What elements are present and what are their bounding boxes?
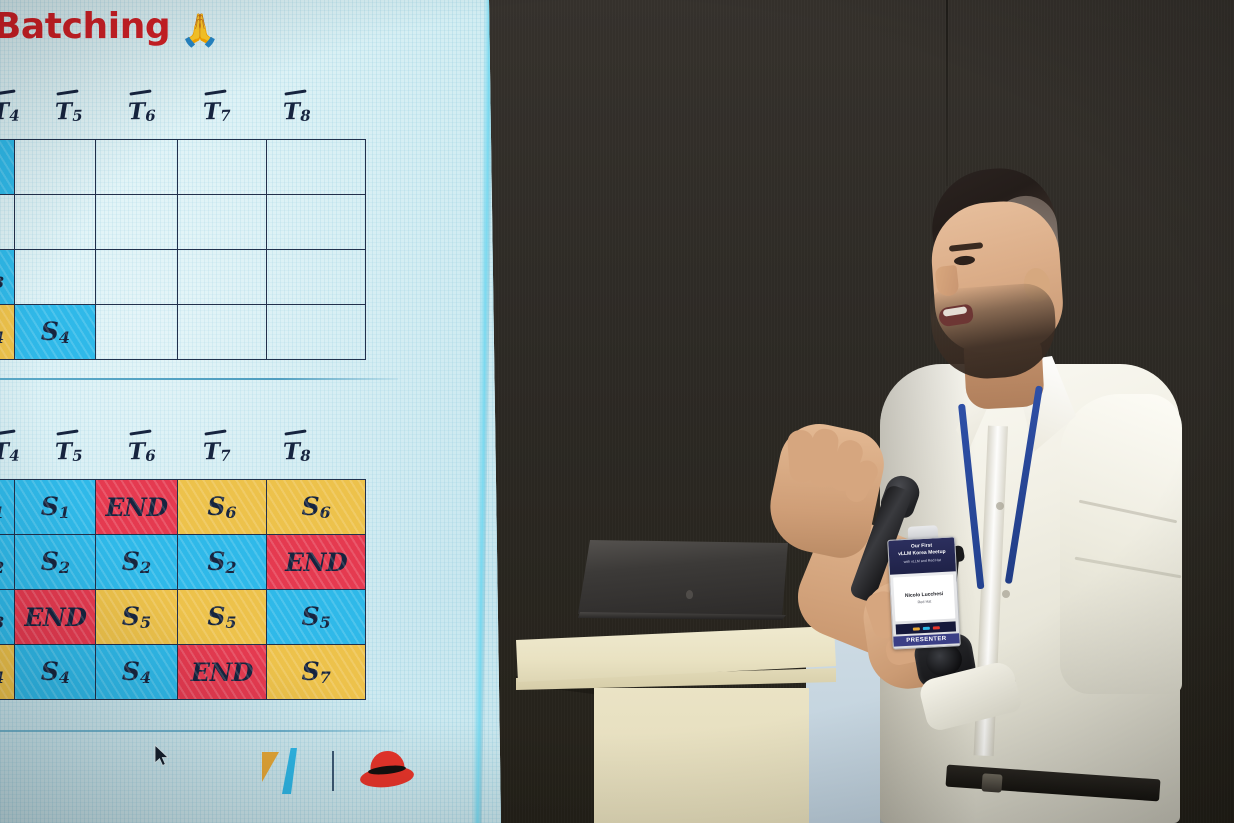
header-t5-bottom: T5 <box>55 438 83 466</box>
grid-cell <box>177 250 267 305</box>
grid-cell <box>267 195 366 250</box>
slide-footer-rule <box>0 730 404 732</box>
grid-cell: S1 <box>0 480 15 535</box>
grid-cell: S4 <box>96 645 177 700</box>
grid-cell <box>15 140 96 195</box>
badge-header: Our First vLLM Korea Meetup with vLLM an… <box>888 537 956 574</box>
shirt-button-2 <box>1002 590 1010 598</box>
presenter-right-shoulder <box>1060 394 1182 694</box>
header-t4-bottom: T4 <box>0 438 20 466</box>
table-row: S4S4S4ENDS7 <box>0 645 366 700</box>
bottom-batching-table: S1S1ENDS6S6S2S2S2S2ENDS3ENDS5S5S5S4S4S4E… <box>0 479 366 700</box>
presenter-figure: Our First vLLM Korea Meetup with vLLM an… <box>760 150 1180 823</box>
grid-cell <box>96 195 177 250</box>
slide-footer-logos <box>262 748 414 794</box>
grid-cell <box>0 195 15 250</box>
badge-body: Nicolo Lucchesi Red Hat <box>893 574 955 621</box>
slide-title-text: ative Batching <box>0 6 170 47</box>
table-row: S3 <box>0 250 366 305</box>
table-row <box>0 140 366 195</box>
grid-cell: S5 <box>177 590 267 645</box>
badge-role: PRESENTER <box>893 633 959 646</box>
grid-cell: END <box>177 645 267 700</box>
badge-attendee-name: Nicolo Lucchesi <box>905 591 944 599</box>
grid-cell: S6 <box>267 480 366 535</box>
slide-divider <box>0 378 398 380</box>
grid-cell: S4 <box>15 645 96 700</box>
projection-screen: ative Batching🙏 T4 T5 T6 T7 T8 S3S4S4 T4… <box>0 0 502 823</box>
header-t4-top: T4 <box>0 98 20 126</box>
grid-cell <box>267 140 366 195</box>
grid-cell: END <box>15 590 96 645</box>
grid-cell: S5 <box>96 590 177 645</box>
header-t8-top: T8 <box>283 98 311 126</box>
grid-cell: S4 <box>0 305 15 360</box>
table-row <box>0 195 366 250</box>
grid-cell: S2 <box>0 535 15 590</box>
mouse-pointer-icon[interactable] <box>154 744 170 768</box>
table-row: S4S4 <box>0 305 366 360</box>
laptop-lid <box>578 540 788 618</box>
grid-cell <box>96 250 177 305</box>
badge-sponsor-strip <box>896 621 956 634</box>
grid-cell: S2 <box>177 535 267 590</box>
header-t8-bottom: T8 <box>283 438 311 466</box>
laptop-logo-icon <box>686 590 693 599</box>
header-t5-top: T5 <box>55 98 83 126</box>
grid-cell <box>15 250 96 305</box>
grid-cell: S3 <box>0 590 15 645</box>
grid-cell <box>177 140 267 195</box>
grid-cell <box>96 140 177 195</box>
grid-cell <box>96 305 177 360</box>
grid-cell: S5 <box>267 590 366 645</box>
header-t6-top: T6 <box>128 98 156 126</box>
grid-cell: END <box>267 535 366 590</box>
table-row: S2S2S2S2END <box>0 535 366 590</box>
grid-cell <box>177 195 267 250</box>
grid-cell: S2 <box>15 535 96 590</box>
logo-separator <box>332 751 334 791</box>
grid-cell: S3 <box>0 250 15 305</box>
table-row: S3ENDS5S5S5 <box>0 590 366 645</box>
screenshot-stage: ative Batching🙏 T4 T5 T6 T7 T8 S3S4S4 T4… <box>0 0 1234 823</box>
grid-cell: S1 <box>15 480 96 535</box>
grid-cell <box>15 195 96 250</box>
grid-cell <box>177 305 267 360</box>
slide-title: ative Batching🙏 <box>0 6 220 49</box>
grid-cell: S2 <box>96 535 177 590</box>
presenter-badge: Our First vLLM Korea Meetup with vLLM an… <box>887 536 961 649</box>
praying-hands-icon: 🙏 <box>180 11 219 49</box>
grid-cell <box>267 250 366 305</box>
screen-right-edge <box>472 0 494 823</box>
grid-cell: END <box>96 480 177 535</box>
grid-cell: S4 <box>15 305 96 360</box>
top-batching-table: S3S4S4 <box>0 139 366 360</box>
grid-cell: S6 <box>177 480 267 535</box>
grid-cell <box>267 305 366 360</box>
table-row: S1S1ENDS6S6 <box>0 480 366 535</box>
grid-cell: S4 <box>0 645 15 700</box>
vllm-logo-icon <box>262 748 306 794</box>
header-t7-bottom: T7 <box>203 438 231 466</box>
top-table-header-row: T4 T5 T6 T7 T8 <box>0 98 470 130</box>
bottom-table-header-row: T4 T5 T6 T7 T8 <box>0 438 470 470</box>
shirt-button-1 <box>996 502 1004 510</box>
redhat-logo-icon <box>360 751 414 791</box>
slide-content: ative Batching🙏 T4 T5 T6 T7 T8 S3S4S4 T4… <box>0 0 470 823</box>
header-t6-bottom: T6 <box>128 438 156 466</box>
belt-buckle <box>981 773 1002 792</box>
header-t7-top: T7 <box>203 98 231 126</box>
grid-cell <box>0 140 15 195</box>
badge-attendee-org: Red Hat <box>917 600 931 605</box>
grid-cell: S7 <box>267 645 366 700</box>
